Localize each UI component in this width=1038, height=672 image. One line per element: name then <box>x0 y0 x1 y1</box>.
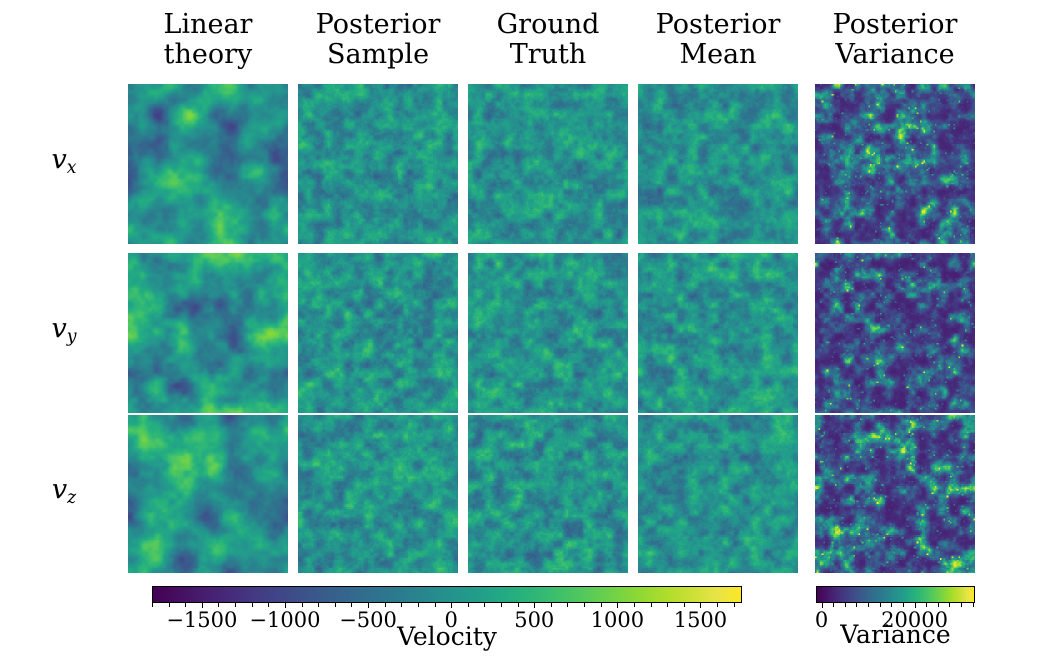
colorbar-velocity-minor-tick <box>235 603 236 607</box>
row-label-vx-symbol: v <box>51 144 66 175</box>
colorbar-velocity-title: Velocity <box>152 622 742 651</box>
row-label-vz-symbol: v <box>52 474 67 505</box>
colorbar-velocity-minor-tick <box>401 603 402 607</box>
colorbar-velocity-minor-tick <box>551 603 552 607</box>
colorbar-velocity-minor-tick <box>634 603 635 607</box>
column-header-posterior-variance: Posterior Variance <box>815 10 975 70</box>
colorbar-velocity-minor-tick <box>351 603 352 607</box>
colorbar-velocity-minor-tick <box>252 603 253 607</box>
colorbar-variance-minor-tick <box>949 603 950 607</box>
colorbar-velocity-minor-tick <box>667 603 668 607</box>
colorbar-velocity-minor-tick <box>435 603 436 607</box>
colorbar-velocity <box>152 586 742 603</box>
panel-image-vz-posterior-mean <box>638 415 798 573</box>
panel-image-vx-posterior-sample <box>298 84 458 244</box>
panel-vy-posterior-mean <box>638 253 798 413</box>
colorbar-velocity-minor-tick <box>318 603 319 607</box>
colorbar-velocity-minor-tick <box>268 603 269 607</box>
row-label-vy-sub: y <box>67 327 77 347</box>
panel-image-vy-posterior-mean <box>638 253 798 413</box>
panel-vx-posterior-variance <box>815 84 975 244</box>
colorbar-velocity-minor-tick <box>185 603 186 607</box>
row-label-vz: vz <box>0 474 128 508</box>
panel-vy-linear-theory <box>128 253 288 413</box>
panel-vz-posterior-mean <box>638 415 798 573</box>
colorbar-velocity-minor-tick <box>385 603 386 607</box>
panel-image-vy-posterior-variance <box>815 253 975 413</box>
colorbar-variance-minor-tick <box>961 603 962 607</box>
panel-image-vy-ground-truth <box>468 253 628 413</box>
colorbar-variance-minor-tick <box>938 603 939 607</box>
row-label-vy: vy <box>0 313 128 347</box>
panel-vz-posterior-sample <box>298 415 458 573</box>
colorbar-variance-minor-tick <box>845 603 846 607</box>
colorbar-velocity-minor-tick <box>651 603 652 607</box>
colorbar-velocity-minor-tick <box>484 603 485 607</box>
panel-vy-posterior-sample <box>298 253 458 413</box>
column-header-posterior-sample: Posterior Sample <box>298 10 458 70</box>
colorbar-velocity-minor-tick <box>152 603 153 607</box>
colorbar-velocity-gradient <box>153 587 741 602</box>
colorbar-variance-minor-tick <box>856 603 857 607</box>
colorbar-velocity-minor-tick <box>218 603 219 607</box>
colorbar-variance-minor-tick <box>868 603 869 607</box>
panel-image-vy-linear-theory <box>128 253 288 413</box>
figure-canvas: Linear theory Posterior Sample Ground Tr… <box>0 0 1038 672</box>
panel-vz-posterior-variance <box>815 415 975 573</box>
column-header-ground-truth: Ground Truth <box>468 10 628 70</box>
colorbar-velocity-minor-tick <box>584 603 585 607</box>
panel-vx-ground-truth <box>468 84 628 244</box>
colorbar-variance-minor-tick <box>833 603 834 607</box>
colorbar-velocity-minor-tick <box>335 603 336 607</box>
panel-image-vy-posterior-sample <box>298 253 458 413</box>
column-header-posterior-mean: Posterior Mean <box>638 10 798 70</box>
colorbar-velocity-minor-tick <box>601 603 602 607</box>
colorbar-variance-minor-tick <box>891 603 892 607</box>
panel-image-vz-posterior-sample <box>298 415 458 573</box>
panel-image-vz-ground-truth <box>468 415 628 573</box>
panel-vx-posterior-mean <box>638 84 798 244</box>
column-header-linear-theory: Linear theory <box>128 10 288 70</box>
panel-image-vx-posterior-mean <box>638 84 798 244</box>
panel-image-vx-linear-theory <box>128 84 288 244</box>
panel-image-vz-linear-theory <box>128 415 288 573</box>
colorbar-variance <box>816 586 975 603</box>
colorbar-variance-minor-tick <box>973 603 974 607</box>
colorbar-velocity-minor-tick <box>169 603 170 607</box>
panel-image-vz-posterior-variance <box>815 415 975 573</box>
colorbar-velocity-minor-tick <box>518 603 519 607</box>
row-label-vy-symbol: v <box>51 313 66 344</box>
colorbar-velocity-minor-tick <box>734 603 735 607</box>
panel-vy-ground-truth <box>468 253 628 413</box>
colorbar-velocity-minor-tick <box>501 603 502 607</box>
colorbar-velocity-minor-tick <box>684 603 685 607</box>
colorbar-variance-minor-tick <box>903 603 904 607</box>
row-label-vx-sub: x <box>67 158 77 178</box>
panel-vx-posterior-sample <box>298 84 458 244</box>
colorbar-velocity-minor-tick <box>717 603 718 607</box>
panel-image-vx-posterior-variance <box>815 84 975 244</box>
panel-image-vx-ground-truth <box>468 84 628 244</box>
colorbar-variance-minor-tick <box>880 603 881 607</box>
colorbar-velocity-minor-tick <box>567 603 568 607</box>
colorbar-velocity-minor-tick <box>468 603 469 607</box>
colorbar-variance-title: Variance <box>816 620 975 649</box>
panel-vz-ground-truth <box>468 415 628 573</box>
colorbar-variance-gradient <box>817 587 974 602</box>
panel-vy-posterior-variance <box>815 253 975 413</box>
colorbar-velocity-minor-tick <box>302 603 303 607</box>
panel-vz-linear-theory <box>128 415 288 573</box>
row-label-vz-sub: z <box>67 488 76 508</box>
panel-vx-linear-theory <box>128 84 288 244</box>
colorbar-velocity-minor-tick <box>418 603 419 607</box>
colorbar-variance-minor-tick <box>926 603 927 607</box>
row-label-vx: vx <box>0 144 128 178</box>
